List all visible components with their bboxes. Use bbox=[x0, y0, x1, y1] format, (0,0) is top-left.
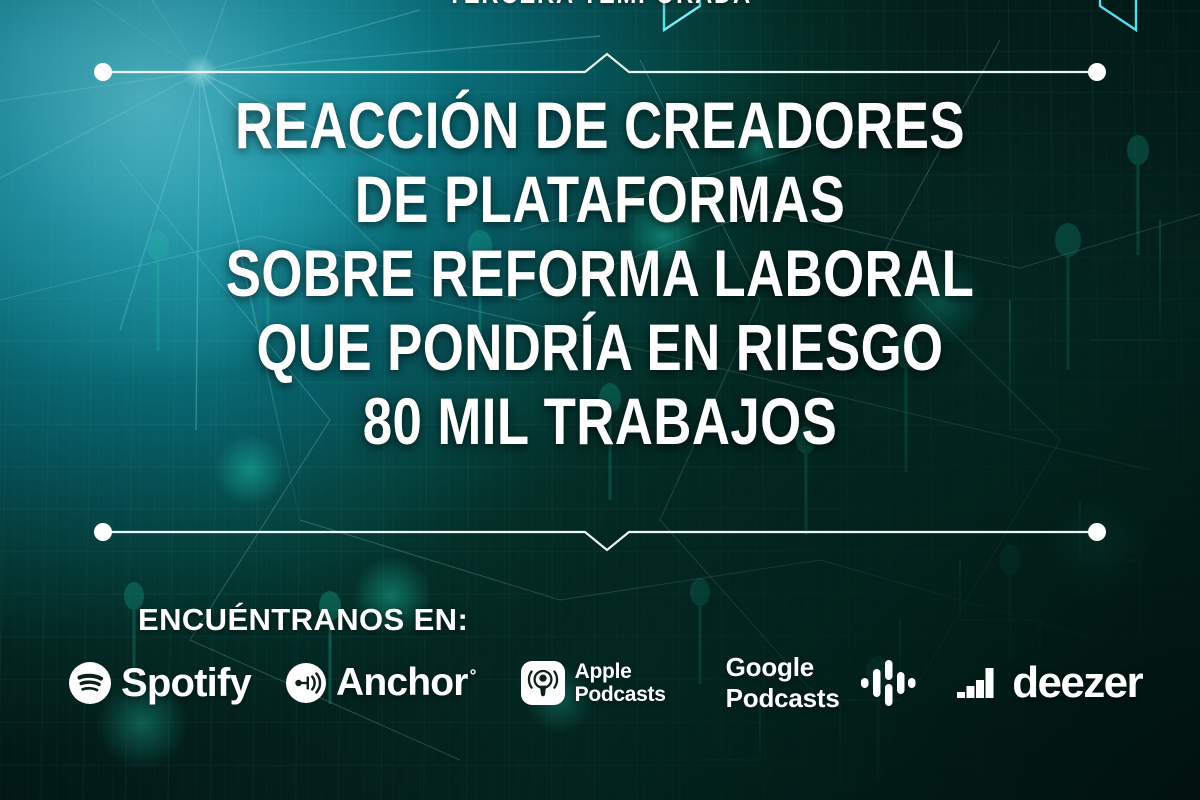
deezer-wordmark: deezer bbox=[1012, 658, 1142, 708]
platform-deezer[interactable]: deezer bbox=[957, 658, 1142, 708]
anchor-degree-mark: ° bbox=[470, 666, 476, 685]
find-us-label: ENCUÉNTRANOS EN: bbox=[138, 602, 1200, 638]
title-line-5: 80 MIL TRABAJOS bbox=[120, 384, 1080, 458]
title-line-1: REACCIÓN DE CREADORES bbox=[120, 88, 1080, 162]
season-label: TERCERA TEMPORADA bbox=[448, 0, 753, 11]
title-line-4: QUE PONDRÍA EN RIESGO bbox=[120, 310, 1080, 384]
platform-spotify[interactable]: Spotify bbox=[68, 661, 251, 706]
anchor-wordmark: Anchor° bbox=[336, 661, 476, 705]
apple-word-line1: Apple bbox=[575, 660, 632, 683]
platform-apple-podcasts[interactable]: Apple Podcasts bbox=[520, 660, 666, 706]
apple-podcasts-icon bbox=[520, 660, 566, 706]
title-line-3: SOBRE REFORMA LABORAL bbox=[120, 236, 1080, 310]
platforms-footer: ENCUÉNTRANOS EN: Spotify bbox=[0, 602, 1200, 714]
apple-podcasts-wordmark: Apple Podcasts bbox=[575, 660, 666, 706]
title-line-2: DE PLATAFORMAS bbox=[120, 162, 1080, 236]
apple-word-line2: Podcasts bbox=[575, 683, 666, 706]
anchor-icon bbox=[285, 662, 327, 704]
google-podcasts-icon bbox=[859, 658, 917, 708]
deezer-equalizer-icon bbox=[957, 666, 1003, 700]
platform-logo-row: Spotify bbox=[0, 652, 1200, 714]
season-badge: TERCERA TEMPORADA bbox=[0, 0, 1200, 11]
spotify-wordmark: Spotify bbox=[121, 661, 251, 706]
spotify-icon bbox=[68, 661, 112, 705]
google-podcasts-wordmark: Google Podcasts bbox=[726, 652, 851, 714]
platform-google-podcasts[interactable]: Google Podcasts bbox=[726, 652, 918, 714]
platform-anchor[interactable]: Anchor° bbox=[285, 661, 476, 705]
episode-title: REACCIÓN DE CREADORES DE PLATAFORMAS SOB… bbox=[0, 88, 1200, 458]
podcast-episode-poster: TERCERA TEMPORADA REACCIÓN DE CREADORES … bbox=[0, 0, 1200, 800]
anchor-wordmark-text: Anchor bbox=[336, 661, 468, 704]
